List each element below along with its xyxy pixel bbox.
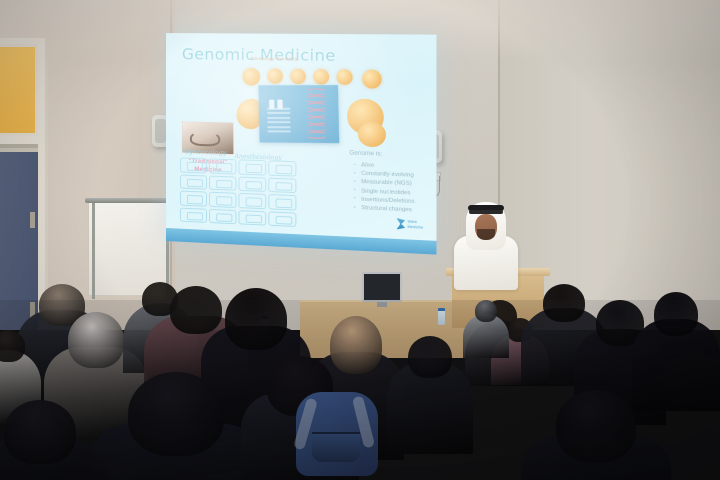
gynaecology-label: Gynaecology <box>184 148 226 157</box>
icon-ambulance <box>180 191 207 207</box>
blue-backpack <box>296 392 378 476</box>
sequencing-bars <box>267 108 290 137</box>
attendee-head <box>128 372 224 456</box>
door-transom-window <box>0 44 38 136</box>
genome-heading: Genome is: <box>349 150 382 157</box>
icon-pills <box>238 210 266 226</box>
attendee-head <box>0 330 25 362</box>
projection-screen: Genomic Medicine Neurology Genetics <box>166 33 436 255</box>
icon-wheelchair <box>180 174 207 190</box>
icon-bone <box>268 177 296 193</box>
icon-xray <box>268 211 296 227</box>
slide-stage-label: Neurology Genetics <box>251 56 298 62</box>
logo-mark-icon <box>396 218 405 230</box>
monitor-on-table <box>362 272 402 302</box>
icon-lungs <box>209 158 236 174</box>
attendee-head <box>4 400 76 464</box>
attendee-head <box>475 300 497 322</box>
attendee-mid-dark <box>387 336 473 470</box>
icon-microbe <box>238 159 266 175</box>
attendee-bottom-left <box>0 400 107 480</box>
monitor-stand <box>377 302 387 307</box>
medical-icon-grid <box>180 157 296 227</box>
presenter-agal-lower <box>469 210 503 214</box>
presenter <box>450 196 522 288</box>
logo-line2: Medicine <box>407 224 423 229</box>
attendee-dark-right-front <box>521 390 671 480</box>
organ-illustration-lobes <box>358 122 386 148</box>
attendee-head <box>408 336 452 378</box>
stethoscope-icon <box>190 131 220 146</box>
icon-brain-scan <box>209 175 236 191</box>
lecture-hall-photo: Genomic Medicine Neurology Genetics <box>0 0 720 480</box>
dna-panel <box>258 85 339 143</box>
icon-eye <box>238 176 266 192</box>
icon-hospital-bed <box>180 207 207 223</box>
icon-kidney <box>268 160 296 176</box>
icon-stomach <box>180 157 207 173</box>
icon-heart <box>209 192 236 208</box>
genome-bullet-list: Alive Constantly evolving Measurable (NG… <box>354 161 437 216</box>
attendee-head <box>68 312 124 368</box>
backpack-pocket <box>312 432 360 462</box>
dna-helix-icon <box>302 87 331 141</box>
icon-microscope <box>209 208 236 224</box>
attendee-head <box>556 390 636 462</box>
attendee-dark-front <box>91 372 261 480</box>
water-bottle-1 <box>438 308 445 325</box>
presenter-beard <box>477 229 495 240</box>
slide-logo: Sidra Medicine <box>396 218 423 231</box>
attendee-head <box>225 288 287 350</box>
icon-skeleton <box>268 194 296 210</box>
attendee-head <box>654 292 698 336</box>
whiteboard-rail <box>85 198 173 203</box>
icon-syringe <box>238 193 266 209</box>
logo-text: Sidra Medicine <box>407 220 423 230</box>
slide-genomic-medicine: Genomic Medicine Neurology Genetics <box>166 33 436 255</box>
